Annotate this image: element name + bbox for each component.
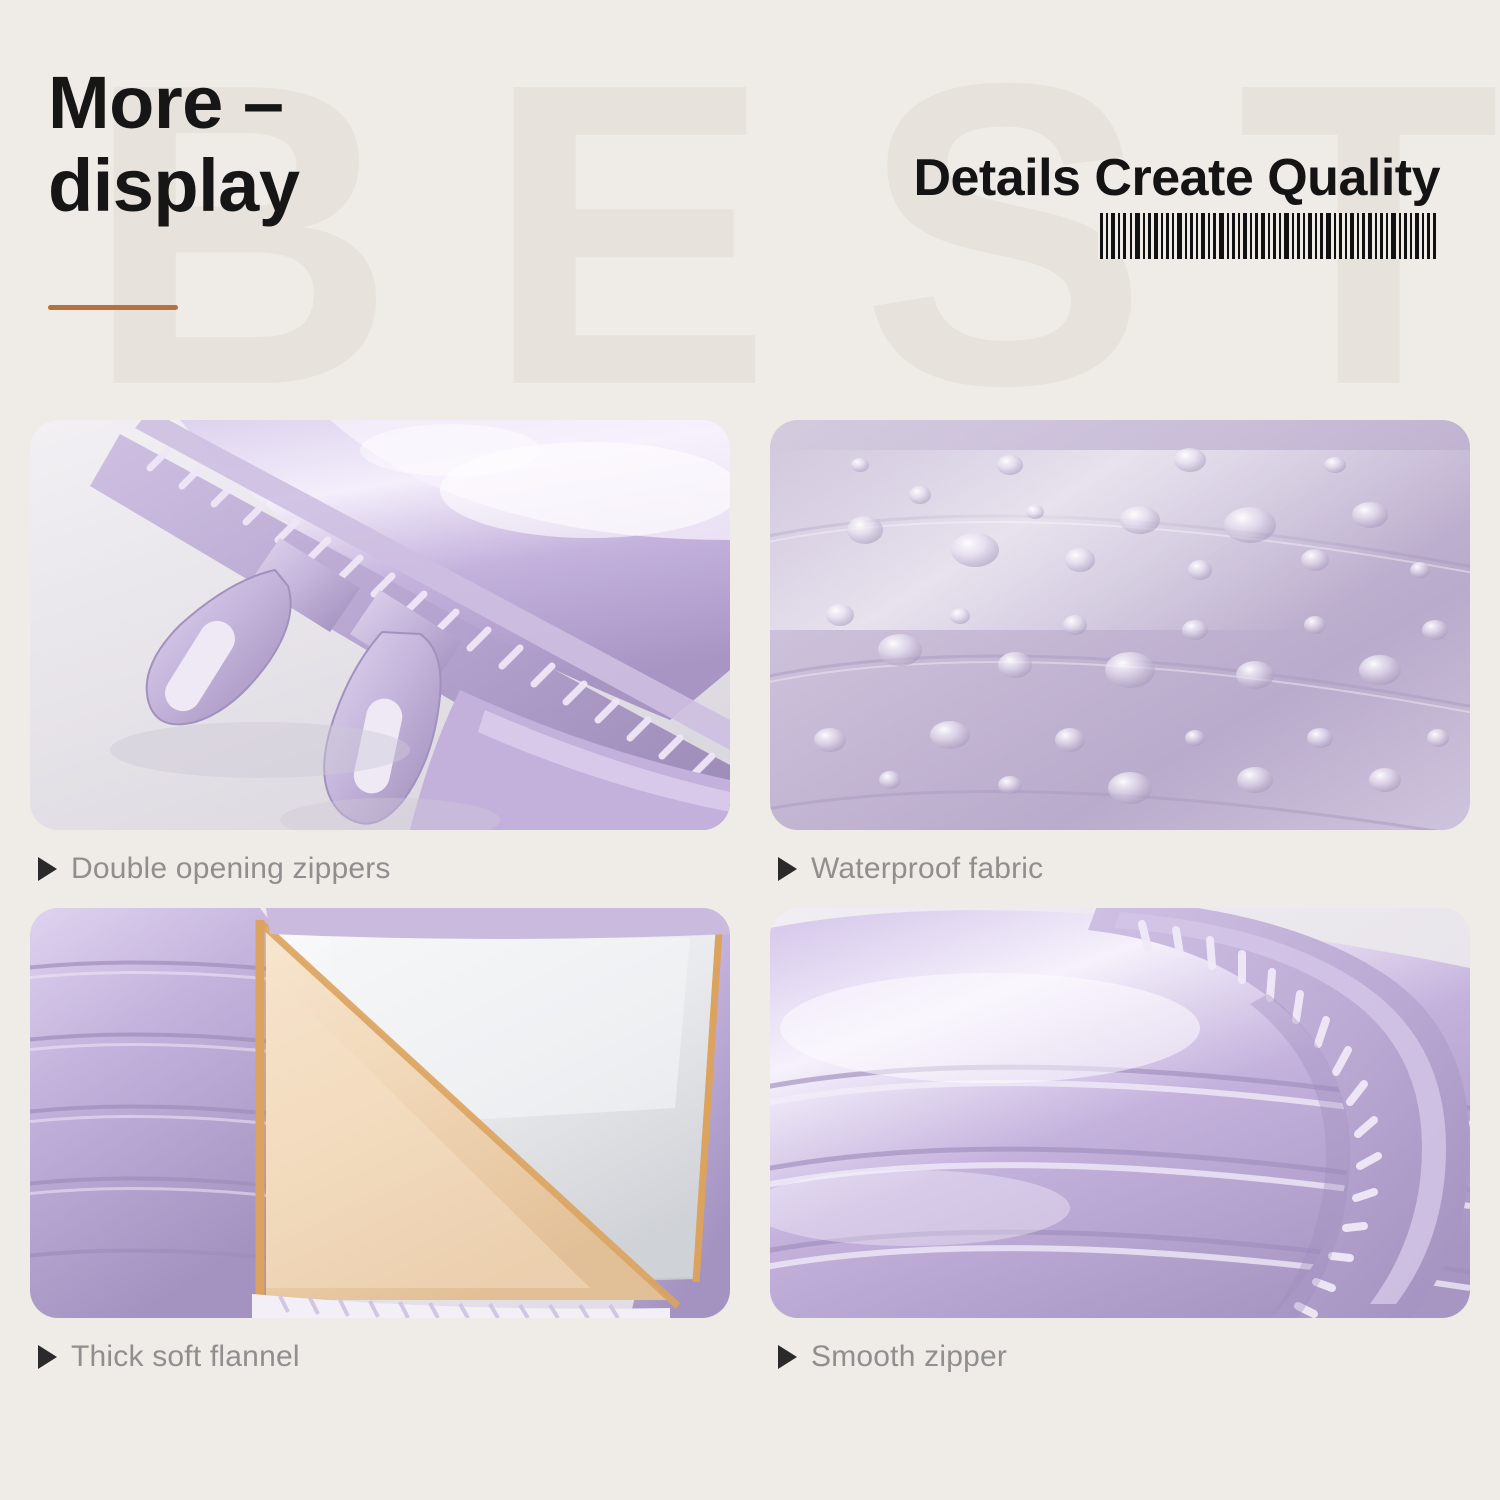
triangle-bullet-icon — [38, 857, 57, 881]
section-heading: Details Create Quality — [913, 148, 1440, 208]
product-photo-double-opening-zippers — [30, 420, 730, 830]
triangle-bullet-icon — [778, 1345, 797, 1369]
caption-text: Smooth zipper — [811, 1340, 1007, 1374]
caption-smooth-zipper: Smooth zipper — [778, 1340, 1470, 1374]
header: More – display Details Create Quality — [0, 0, 1500, 400]
caption-thick-soft-flannel: Thick soft flannel — [38, 1340, 730, 1374]
caption-waterproof-fabric: Waterproof fabric — [778, 852, 1470, 886]
triangle-bullet-icon — [778, 857, 797, 881]
feature-card-waterproof-fabric: Waterproof fabric — [770, 420, 1470, 886]
feature-card-smooth-zipper: Smooth zipper — [770, 908, 1470, 1374]
feature-card-thick-soft-flannel: Thick soft flannel — [30, 908, 730, 1374]
page-title: More – display — [48, 62, 300, 228]
title-accent-rule — [48, 305, 178, 310]
product-photo-waterproof-fabric — [770, 420, 1470, 830]
page-title-line-2: display — [48, 145, 300, 228]
product-photo-smooth-zipper — [770, 908, 1470, 1318]
page-title-line-1: More – — [48, 62, 300, 145]
caption-text: Double opening zippers — [71, 852, 391, 886]
caption-text: Waterproof fabric — [811, 852, 1043, 886]
feature-card-double-opening-zippers: Double opening zippers — [30, 420, 730, 886]
barcode-icon — [1098, 213, 1438, 259]
feature-grid: Double opening zippers — [30, 420, 1470, 1374]
product-photo-thick-soft-flannel — [30, 908, 730, 1318]
caption-text: Thick soft flannel — [71, 1340, 300, 1374]
triangle-bullet-icon — [38, 1345, 57, 1369]
caption-double-opening-zippers: Double opening zippers — [38, 852, 730, 886]
